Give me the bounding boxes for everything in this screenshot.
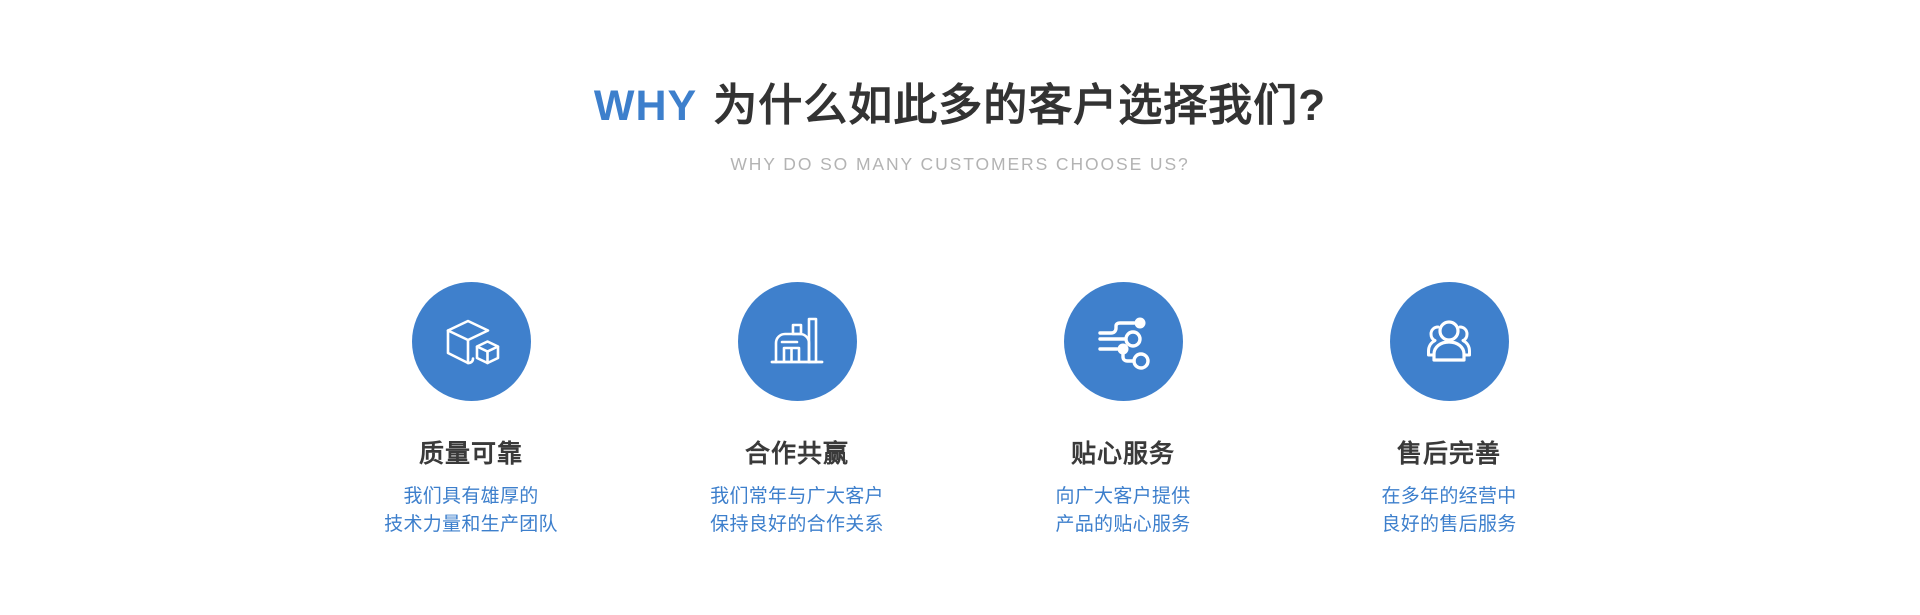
users-group-icon [1416,309,1482,375]
feature-desc-line-2: 技术力量和生产团队 [308,511,634,539]
feature-description: 向广大客户提供 产品的贴心服务 [960,483,1286,539]
feature-description: 我们常年与广大客户 保持良好的合作关系 [634,483,960,539]
feature-icon-circle[interactable] [738,282,857,401]
why-choose-us-section: WHY为什么如此多的客户选择我们? WHY DO SO MANY CUSTOME… [0,0,1920,615]
feature-desc-line-1: 向广大客户提供 [960,483,1286,511]
title-accent-word: WHY [594,82,697,130]
feature-item-aftersales[interactable]: 售后完善 在多年的经营中 良好的售后服务 [1286,282,1612,539]
feature-desc-line-1: 在多年的经营中 [1286,483,1612,511]
feature-description: 在多年的经营中 良好的售后服务 [1286,483,1612,539]
feature-desc-line-2: 产品的贴心服务 [960,511,1286,539]
feature-desc-line-2: 保持良好的合作关系 [634,511,960,539]
feature-item-quality[interactable]: 质量可靠 我们具有雄厚的 技术力量和生产团队 [308,282,634,539]
feature-item-service[interactable]: 贴心服务 向广大客户提供 产品的贴心服务 [960,282,1286,539]
feature-item-cooperation[interactable]: 合作共赢 我们常年与广大客户 保持良好的合作关系 [634,282,960,539]
feature-desc-line-1: 我们常年与广大客户 [634,483,960,511]
feature-icon-circle[interactable] [1390,282,1509,401]
package-box-icon [438,309,504,375]
feature-title: 贴心服务 [960,439,1286,469]
page-title: WHY为什么如此多的客户选择我们? [0,78,1920,134]
title-main-text: 为什么如此多的客户选择我们? [713,81,1326,130]
factory-icon [764,309,830,375]
feature-list: 质量可靠 我们具有雄厚的 技术力量和生产团队 [0,282,1920,539]
feature-desc-line-2: 良好的售后服务 [1286,511,1612,539]
feature-desc-line-1: 我们具有雄厚的 [308,483,634,511]
section-heading: WHY为什么如此多的客户选择我们? WHY DO SO MANY CUSTOME… [0,78,1920,175]
feature-icon-circle[interactable] [412,282,531,401]
feature-title: 合作共赢 [634,439,960,469]
feature-title: 质量可靠 [308,439,634,469]
feature-description: 我们具有雄厚的 技术力量和生产团队 [308,483,634,539]
circuit-nodes-icon [1090,309,1156,375]
feature-icon-circle[interactable] [1064,282,1183,401]
section-subtitle: WHY DO SO MANY CUSTOMERS CHOOSE US? [0,154,1920,175]
feature-title: 售后完善 [1286,439,1612,469]
